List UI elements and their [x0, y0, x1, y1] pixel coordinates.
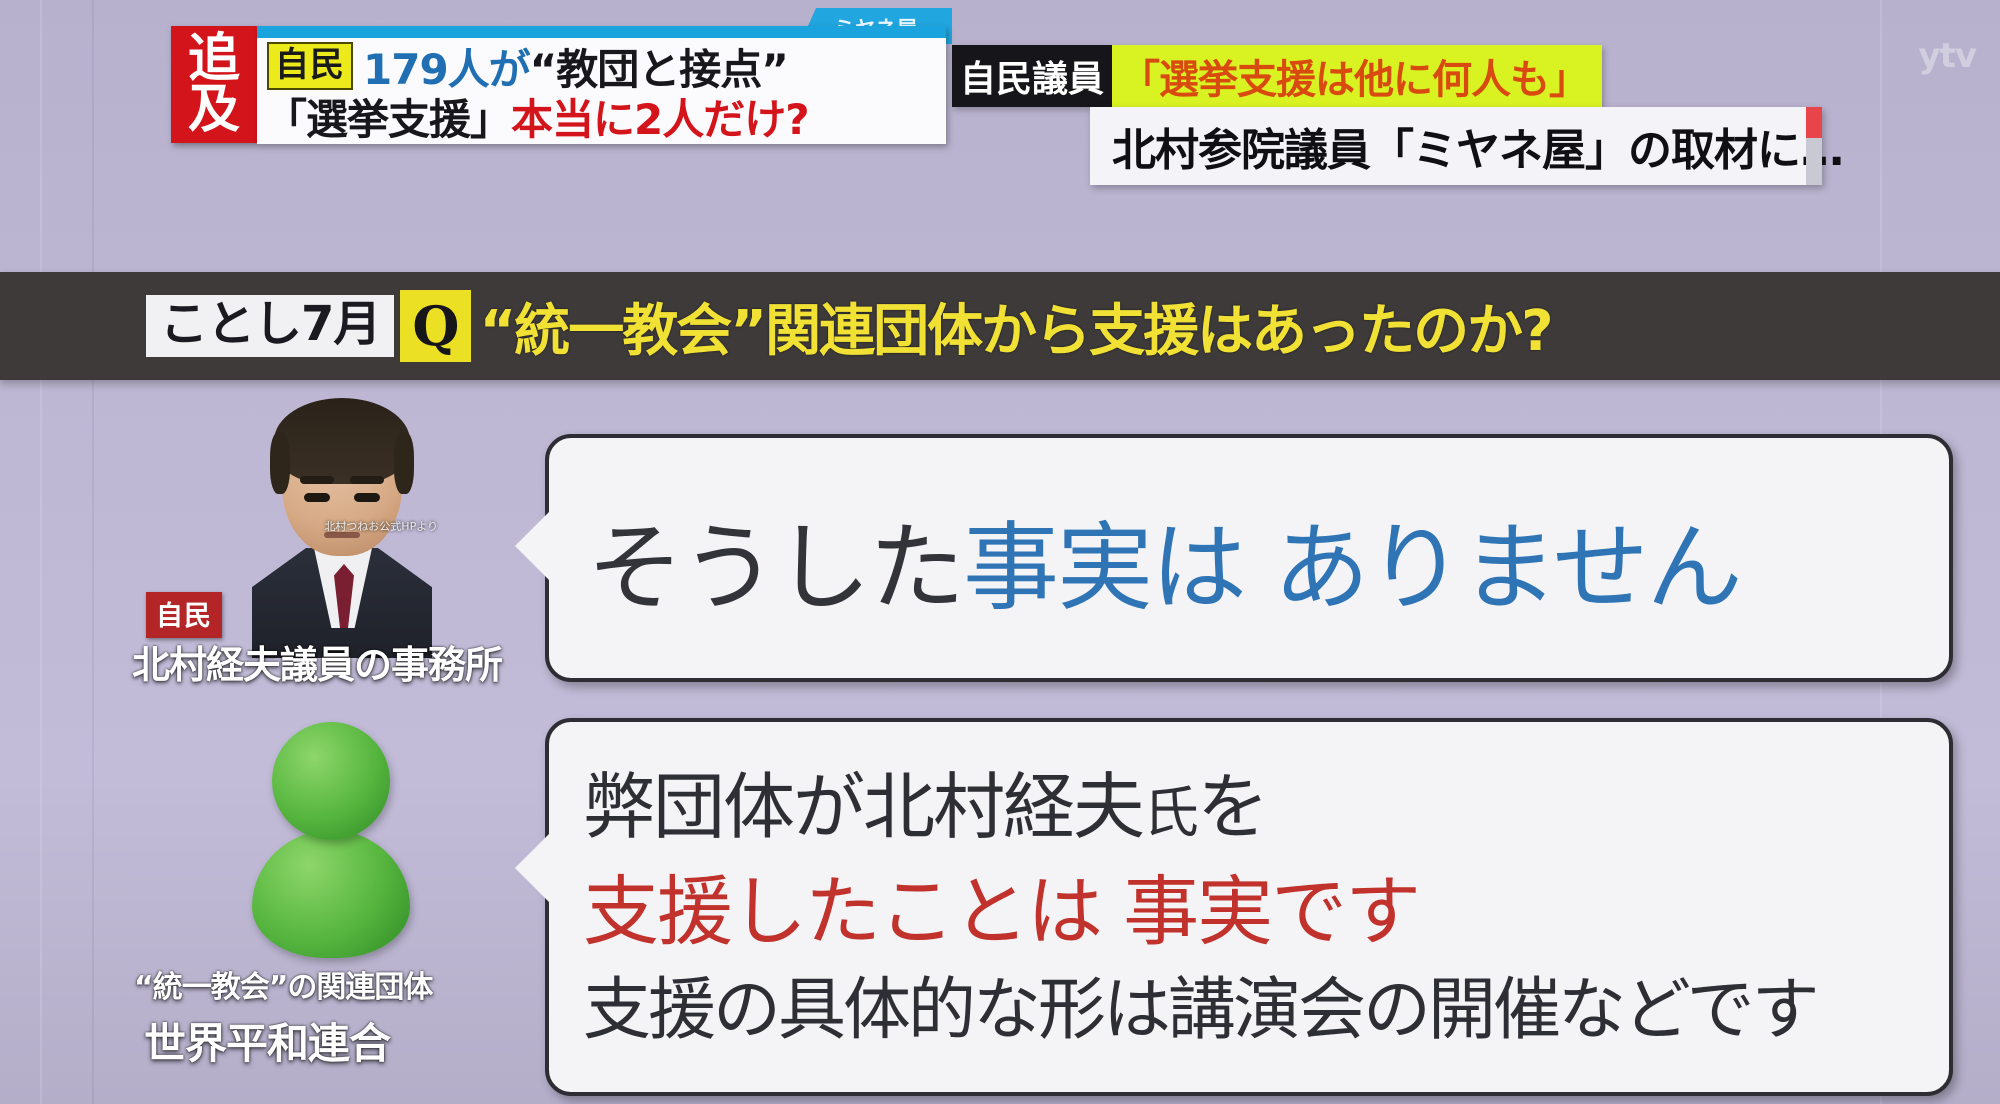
photo-hair — [274, 398, 410, 484]
speaker1-quote-part1: そうした — [587, 490, 963, 629]
question-band: ことし7月 Q “統一教会”関連団体から支援はあったのか? — [0, 272, 2000, 380]
topic-tag: 追 及 — [171, 26, 257, 143]
topic-tag-line1: 追 — [188, 34, 240, 85]
headline-line-2: 「選挙支援」 本当に2人だけ? — [257, 90, 954, 142]
background-seam — [92, 0, 94, 1104]
sub-headline-quote: 「選挙支援は他に何人も」 — [1112, 45, 1602, 107]
bubble-tail — [515, 832, 551, 904]
main-headline: 自民 179人が “教団と接点” 「選挙支援」 本当に2人だけ? — [257, 26, 946, 144]
headline-party-chip: 自民 — [267, 42, 353, 90]
speaker2-quote-line1-b: 氏 — [1143, 781, 1197, 846]
speaker2-quote-line2: 支援したことは 事実です — [583, 850, 1419, 960]
question-text: “統一教会”関連団体から支援はあったのか? — [479, 286, 1551, 367]
topic-tag-line2: 及 — [188, 85, 240, 136]
speaker1-photo: 北村つねお公式HPより — [244, 398, 440, 658]
speaker1-party-chip: 自民 — [146, 592, 222, 638]
broadcast-screen: ytv ミヤネ屋 追 及 自民 179人が “教団と接点” 「選挙支援」 本当に… — [0, 0, 2000, 1104]
speaker2-speech-bubble: 弊団体が北村経夫氏を 支援したことは 事実です 支援の具体的な形は講演会の開催な… — [545, 718, 1953, 1096]
speaker2-quote-line1-a: 弊団体が北村経夫 — [583, 765, 1143, 849]
speaker1-quote: そうした 事実は ありません — [587, 490, 1927, 629]
speaker2-quote-line3: 支援の具体的な形は講演会の開催などです — [583, 954, 1817, 1053]
speaker2-avatar — [240, 722, 420, 952]
context-line: 北村参院議員「ミヤネ屋」の取材に… — [1090, 107, 1822, 185]
context-line-stripe — [1806, 107, 1822, 185]
photo-eye-right — [354, 493, 380, 502]
speaker1-speech-bubble: そうした 事実は ありません — [545, 434, 1953, 682]
photo-eyebrow-left — [300, 476, 334, 484]
photo-credit: 北村つねお公式HPより — [324, 518, 438, 534]
speaker1-name: 北村経夫議員の事務所 — [132, 634, 502, 689]
speaker2-caption-name: 世界平和連合 — [144, 1010, 390, 1071]
station-watermark: ytv — [1918, 36, 1976, 76]
photo-eye-left — [304, 493, 330, 502]
speaker2-quote-line1-c: を — [1197, 765, 1267, 849]
avatar-head — [272, 722, 390, 840]
speaker2-quote-line1: 弊団体が北村経夫氏を — [583, 748, 1267, 853]
question-marker-icon: Q — [400, 290, 471, 362]
speaker2-caption-top: “統一教会”の関連団体 — [134, 962, 432, 1006]
sub-headline-chip: 自民議員 — [952, 45, 1112, 107]
context-line-text: 北村参院議員「ミヤネ屋」の取材に… — [1112, 114, 1843, 178]
speaker1-quote-part2: 事実は ありません — [963, 490, 1741, 629]
question-date: ことし7月 — [146, 295, 394, 357]
bubble-tail — [515, 510, 551, 582]
headline-line-1: 自民 179人が “教団と接点” — [257, 40, 956, 92]
photo-eyebrow-right — [350, 476, 384, 484]
headline-subject: 「選挙支援」 — [265, 86, 511, 147]
background-seam — [40, 0, 42, 1104]
avatar-body — [252, 830, 410, 958]
sub-headline: 自民議員 「選挙支援は他に何人も」 — [952, 45, 1602, 107]
headline-question: 本当に2人だけ? — [511, 86, 809, 147]
